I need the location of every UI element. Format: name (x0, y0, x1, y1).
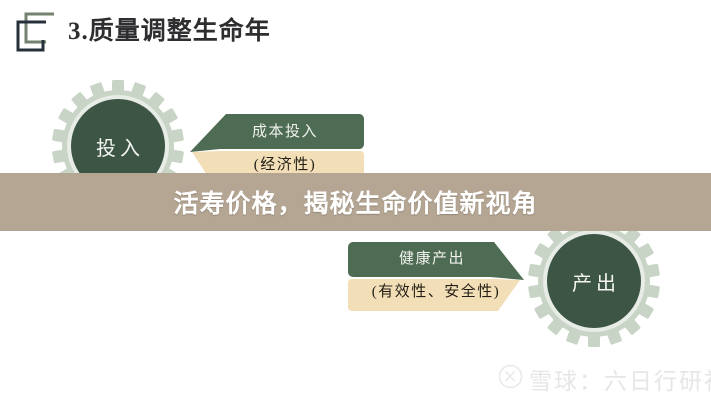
node-output-gear: 产出 (528, 215, 660, 347)
page-title: 3.质量调整生命年 (68, 11, 271, 47)
callout-cost-title: 成本投入 (220, 115, 350, 146)
watermark: 雪球：六日行研社 (498, 362, 711, 396)
callout-health-subtitle: (有效性、安全性) (356, 275, 516, 306)
callout-health-title: 健康产出 (362, 242, 502, 273)
double-bracket-icon (10, 9, 58, 55)
slide-header: 3.质量调整生命年 (0, 0, 711, 62)
overlay-headline: 活寿价格，揭秘生命价值新视角 (0, 173, 711, 231)
snowball-logo-icon (498, 364, 523, 394)
slide-canvas: 3.质量调整生命年 (0, 0, 711, 400)
watermark-text: 雪球：六日行研社 (529, 362, 711, 396)
overlay-banner: 活寿价格，揭秘生命价值新视角 (0, 173, 711, 231)
callout-health-output: 健康产出 (有效性、安全性) (348, 240, 544, 312)
